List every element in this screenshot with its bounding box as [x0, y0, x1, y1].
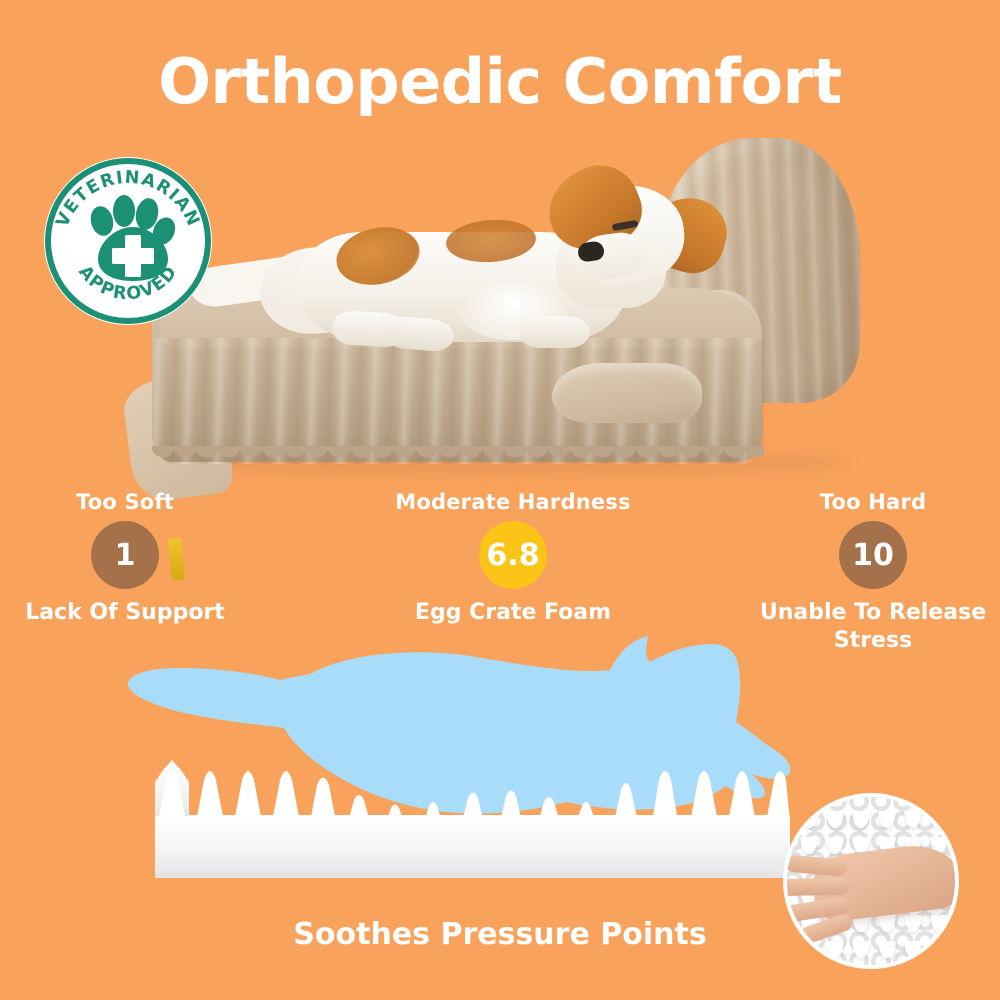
scale-top-label: Too Hard [723, 490, 1000, 514]
dog-photo [200, 150, 720, 370]
scale-bottom-label: Lack Of Support [0, 599, 275, 627]
scale-value-circle: 10 [839, 521, 907, 589]
dog-paw [520, 316, 590, 348]
scale-point-moderate: Moderate Hardness 6.8 Egg Crate Foam [363, 490, 663, 627]
scale-top-label: Moderate Hardness [363, 490, 663, 514]
scale-bottom-label: Egg Crate Foam [363, 599, 663, 627]
bottom-caption: Soothes Pressure Points [0, 917, 1000, 952]
scale-top-label: Too Soft [0, 490, 275, 514]
veterinarian-approved-badge: VETERINARIAN APPROVED [42, 155, 214, 327]
foam-wave-row [783, 811, 959, 837]
infographic-canvas: Orthopedic Comfort [0, 0, 1000, 1000]
page-title: Orthopedic Comfort [0, 46, 1000, 118]
bed-seat-scallop [152, 446, 764, 468]
bed-pillow [552, 363, 702, 423]
dog-silhouette [128, 636, 790, 814]
scale-point-too-soft: Too Soft 1 Lack Of Support [0, 490, 275, 627]
finger [783, 878, 849, 896]
scale-value-circle: 6.8 [479, 521, 547, 589]
scale-value-circle: 1 [91, 521, 159, 589]
